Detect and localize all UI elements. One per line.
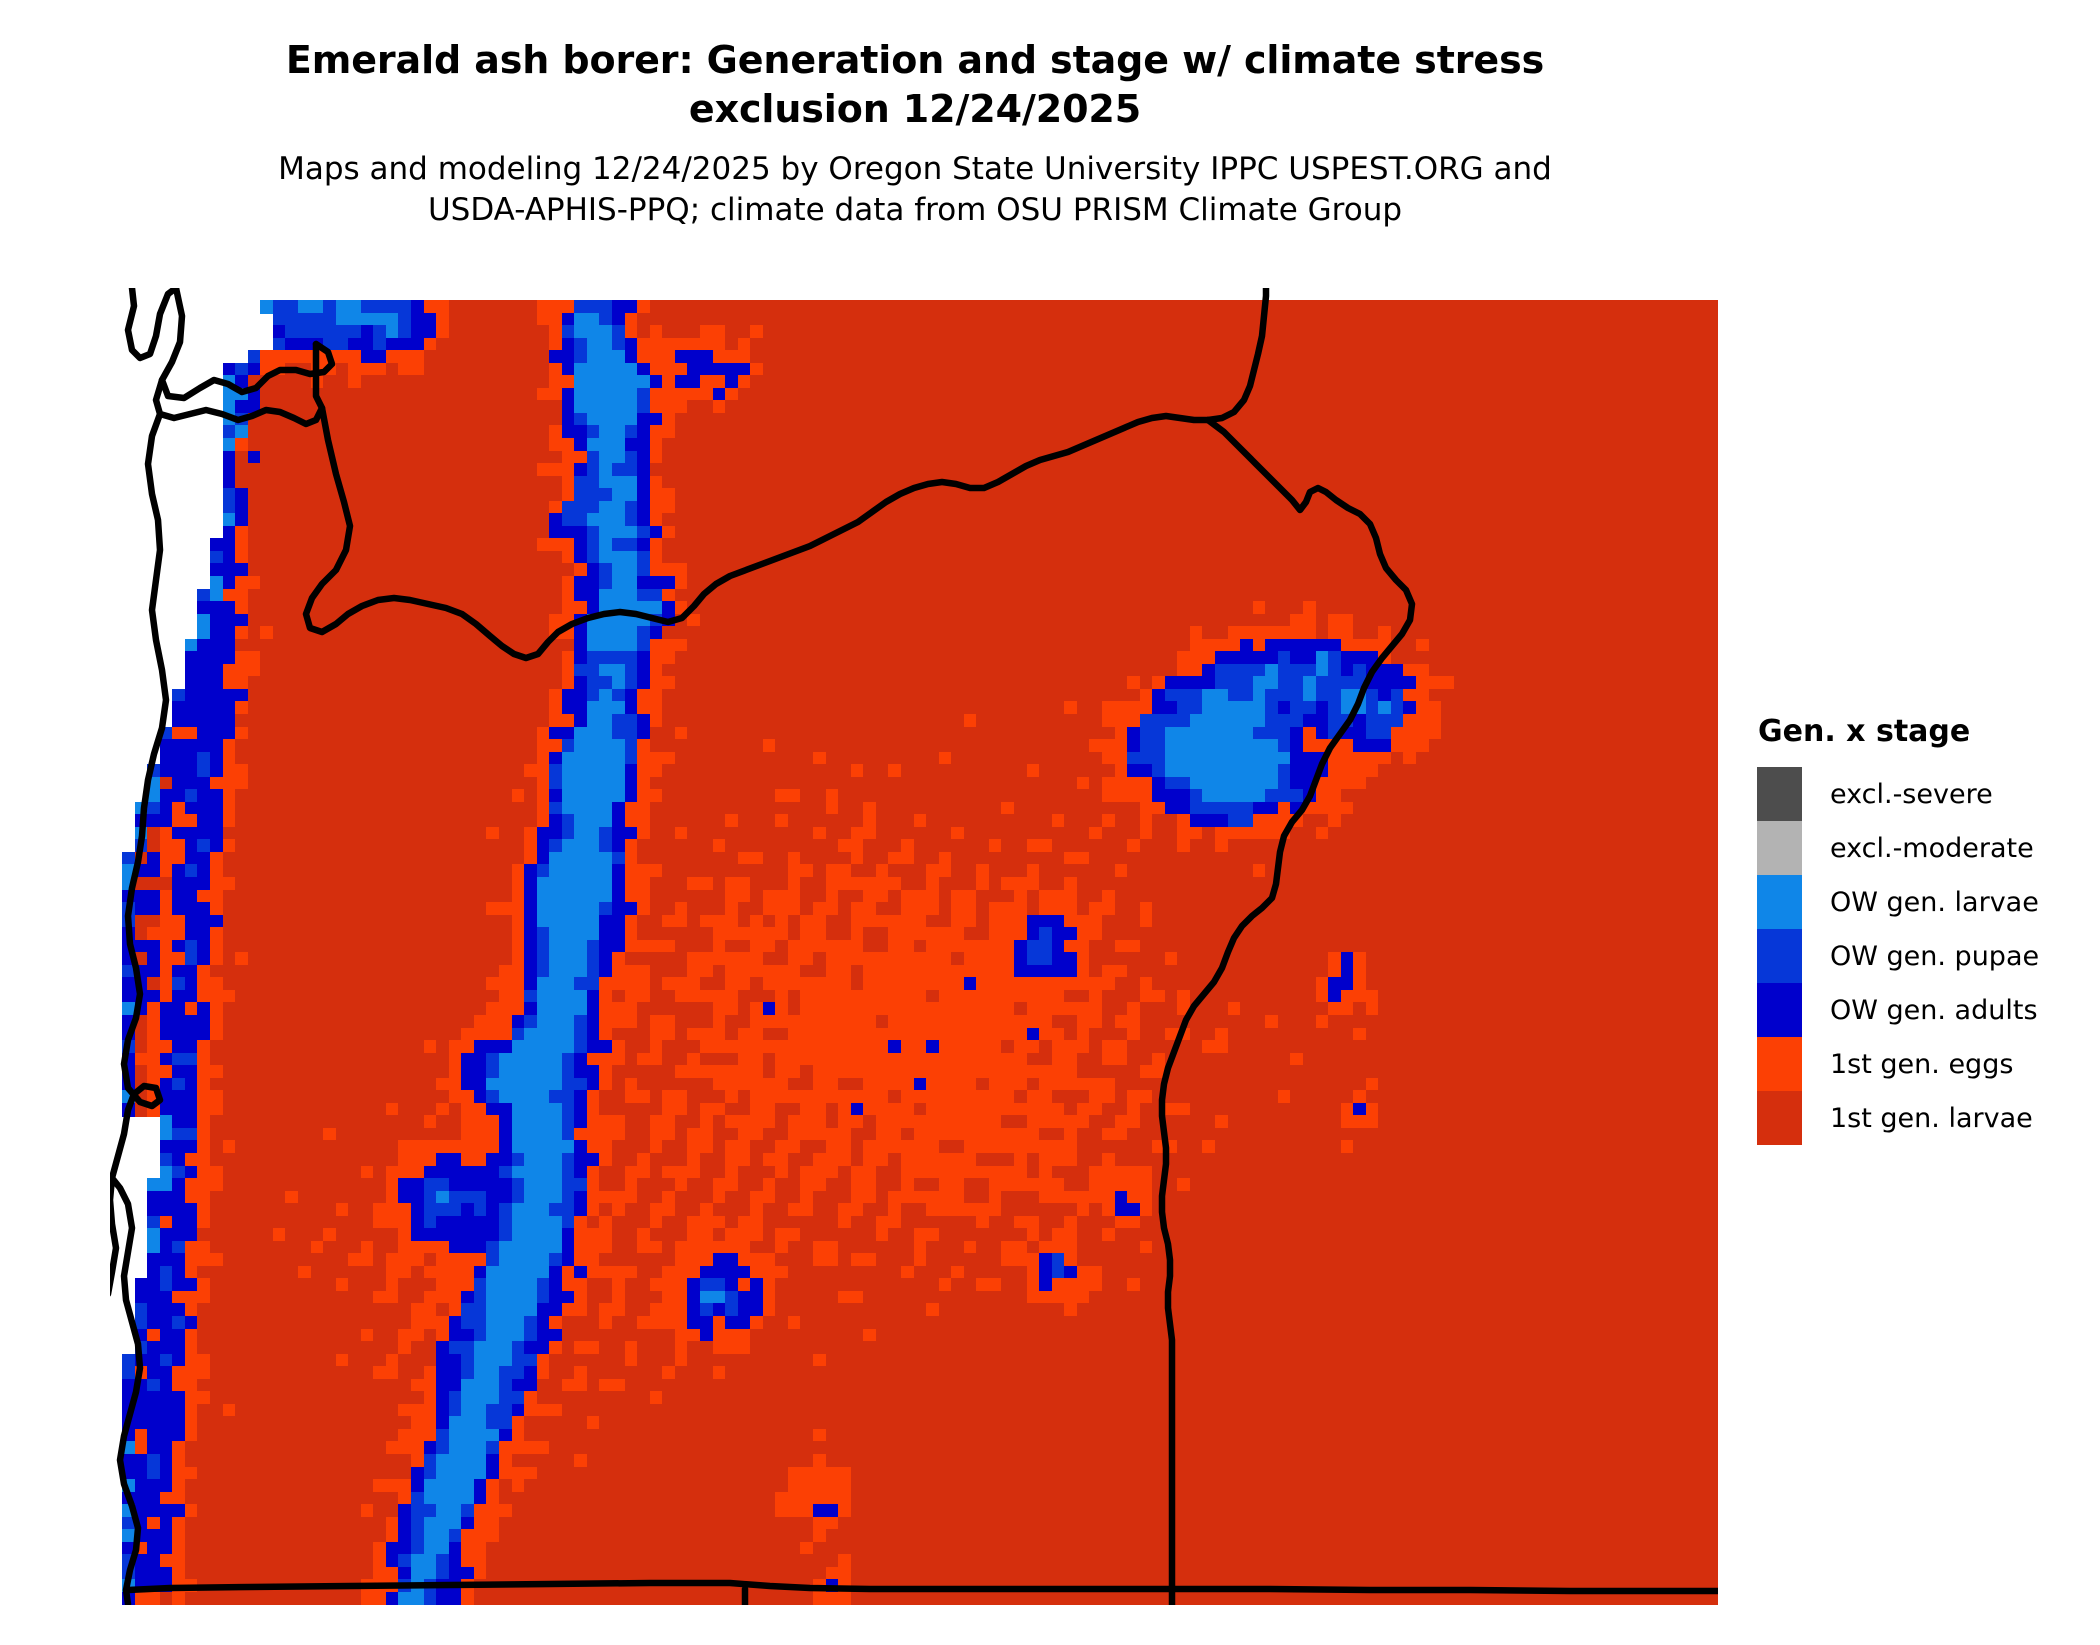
- legend-swatch-4: [1757, 983, 1802, 1037]
- legend-item[interactable]: OW gen. larvae: [1757, 875, 2077, 929]
- columbia-river-path: [156, 344, 322, 424]
- title-block: Emerald ash borer: Generation and stage …: [110, 36, 1720, 230]
- map-panel[interactable]: [110, 288, 1718, 1605]
- state-border-layer: [110, 288, 1718, 1605]
- legend-title: Gen. x stage: [1758, 714, 2077, 749]
- coastline-path: [128, 288, 176, 358]
- legend-label-0: excl.-severe: [1830, 779, 1993, 810]
- washington-idaho-border-path: [1208, 288, 1266, 420]
- legend-swatch-0: [1757, 767, 1802, 821]
- snake-river-border-path: [1162, 420, 1412, 1605]
- legend-item[interactable]: OW gen. adults: [1757, 983, 2077, 1037]
- legend-item[interactable]: 1st gen. eggs: [1757, 1037, 2077, 1091]
- legend-item[interactable]: excl.-severe: [1757, 767, 2077, 821]
- legend-label-5: 1st gen. eggs: [1830, 1049, 2013, 1080]
- legend: Gen. x stage excl.-severeexcl.-moderateO…: [1757, 714, 2077, 1145]
- legend-item[interactable]: OW gen. pupae: [1757, 929, 2077, 983]
- legend-label-2: OW gen. larvae: [1830, 887, 2039, 918]
- legend-label-1: excl.-moderate: [1830, 833, 2034, 864]
- page-subtitle: Maps and modeling 12/24/2025 by Oregon S…: [110, 149, 1720, 230]
- legend-item[interactable]: excl.-moderate: [1757, 821, 2077, 875]
- legend-rows: excl.-severeexcl.-moderateOW gen. larvae…: [1757, 767, 2077, 1145]
- legend-swatch-3: [1757, 929, 1802, 983]
- legend-label-3: OW gen. pupae: [1830, 941, 2039, 972]
- oregon-south-border-path: [128, 1583, 1718, 1591]
- legend-swatch-2: [1757, 875, 1802, 929]
- legend-swatch-6: [1757, 1091, 1802, 1145]
- legend-label-4: OW gen. adults: [1830, 995, 2038, 1026]
- legend-item[interactable]: 1st gen. larvae: [1757, 1091, 2077, 1145]
- columbia-border-path: [306, 408, 1208, 658]
- legend-swatch-5: [1757, 1037, 1802, 1091]
- legend-swatch-1: [1757, 821, 1802, 875]
- legend-label-6: 1st gen. larvae: [1830, 1103, 2033, 1134]
- page-title: Emerald ash borer: Generation and stage …: [110, 36, 1720, 133]
- oregon-coast-path: [110, 414, 166, 1294]
- coastline-north-path: [162, 288, 332, 398]
- map-figure: Emerald ash borer: Generation and stage …: [0, 0, 2100, 1645]
